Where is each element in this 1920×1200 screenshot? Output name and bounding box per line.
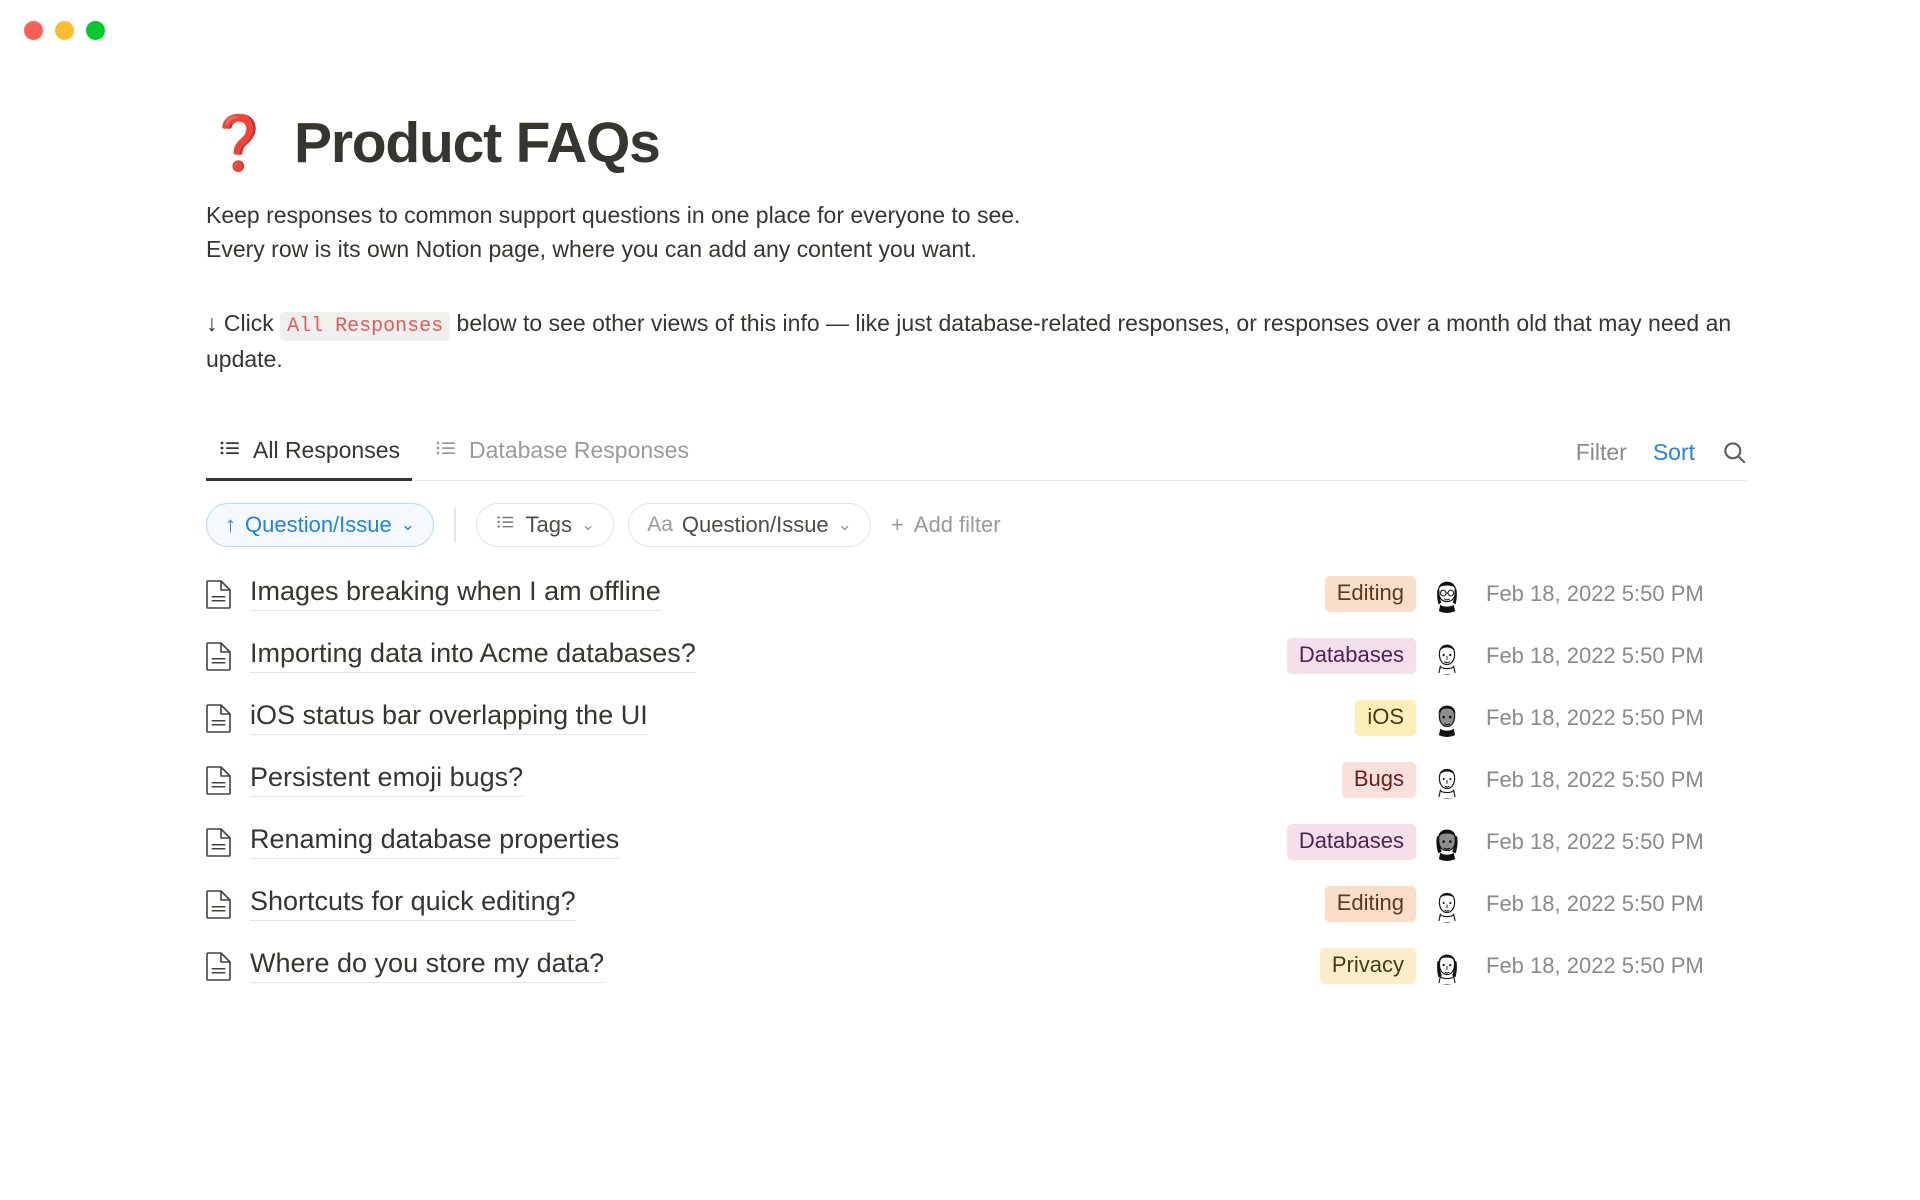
avatar: [1428, 637, 1466, 675]
filter-button[interactable]: Filter: [1576, 439, 1627, 466]
avatar-cell: [1416, 823, 1478, 861]
avatar-cell: [1416, 885, 1478, 923]
table-row[interactable]: iOS status bar overlapping the UIiOSFeb …: [206, 687, 1748, 749]
page-icon: [206, 579, 250, 609]
maximize-window-button[interactable]: [86, 21, 105, 40]
table-row[interactable]: Shortcuts for quick editing?EditingFeb 1…: [206, 873, 1748, 935]
sort-chip-label: Question/Issue: [245, 512, 392, 538]
page-icon: [206, 765, 250, 795]
status-badge[interactable]: iOS: [1355, 700, 1416, 736]
row-date: Feb 18, 2022 5:50 PM: [1478, 767, 1748, 793]
table-row[interactable]: Renaming database propertiesDatabasesFeb…: [206, 811, 1748, 873]
row-date: Feb 18, 2022 5:50 PM: [1478, 891, 1748, 917]
window-titlebar: [0, 0, 1920, 60]
chevron-down-icon: ⌄: [581, 515, 595, 535]
toolbar-actions: Filter Sort: [1576, 439, 1748, 480]
table-row[interactable]: Persistent emoji bugs?BugsFeb 18, 2022 5…: [206, 749, 1748, 811]
status-badge[interactable]: Privacy: [1320, 948, 1416, 984]
filter-chip-label: Question/Issue: [682, 512, 829, 538]
page-icon: [206, 889, 250, 919]
avatar-cell: [1416, 947, 1478, 985]
text-property-icon: Aa: [647, 513, 673, 537]
sort-button[interactable]: Sort: [1653, 439, 1695, 466]
callout-paragraph: ↓ Click All Responses below to see other…: [206, 306, 1748, 376]
table-row[interactable]: Where do you store my data?PrivacyFeb 18…: [206, 935, 1748, 997]
tab-label: Database Responses: [469, 437, 689, 464]
list-icon: [218, 436, 242, 466]
row-date: Feb 18, 2022 5:50 PM: [1478, 581, 1748, 607]
page-icon: [206, 641, 250, 671]
row-date: Feb 18, 2022 5:50 PM: [1478, 643, 1748, 669]
callout-prefix: ↓ Click: [206, 310, 280, 336]
avatar-cell: [1416, 637, 1478, 675]
database-rows: Images breaking when I am offlineEditing…: [206, 563, 1748, 997]
row-title[interactable]: Images breaking when I am offline: [250, 576, 661, 611]
page-icon: [206, 827, 250, 857]
table-row[interactable]: Images breaking when I am offlineEditing…: [206, 563, 1748, 625]
avatar-cell: [1416, 699, 1478, 737]
row-title[interactable]: iOS status bar overlapping the UI: [250, 700, 648, 735]
search-icon[interactable]: [1721, 439, 1748, 466]
table-row[interactable]: Importing data into Acme databases?Datab…: [206, 625, 1748, 687]
row-date: Feb 18, 2022 5:50 PM: [1478, 953, 1748, 979]
filter-chip-tags[interactable]: Tags ⌄: [476, 503, 615, 547]
avatar: [1428, 699, 1466, 737]
status-badge[interactable]: Bugs: [1342, 762, 1416, 798]
tab-label: All Responses: [253, 437, 400, 464]
chip-divider: [454, 508, 456, 542]
view-tabs: All Responses Database Responses: [206, 430, 701, 480]
row-title[interactable]: Persistent emoji bugs?: [250, 762, 523, 797]
tag-cell: Privacy: [1166, 948, 1416, 984]
avatar: [1428, 885, 1466, 923]
filter-chip-row: ↑ Question/Issue ⌄ Tags ⌄ Aa Question/: [206, 503, 1748, 547]
list-icon: [495, 511, 517, 539]
traffic-lights: [24, 21, 105, 40]
close-window-button[interactable]: [24, 21, 43, 40]
avatar-cell: [1416, 575, 1478, 613]
tab-database-responses[interactable]: Database Responses: [422, 430, 701, 480]
tag-cell: Editing: [1166, 576, 1416, 612]
avatar: [1428, 823, 1466, 861]
page-header: ❓ Product FAQs: [206, 114, 1748, 174]
question-mark-emoji: ❓: [206, 117, 272, 170]
row-title[interactable]: Importing data into Acme databases?: [250, 638, 696, 673]
avatar: [1428, 761, 1466, 799]
chevron-down-icon: ⌄: [401, 515, 415, 535]
page-container: ❓ Product FAQs Keep responses to common …: [0, 114, 1920, 997]
plus-icon: +: [891, 512, 904, 538]
status-badge[interactable]: Databases: [1287, 638, 1416, 674]
tag-cell: iOS: [1166, 700, 1416, 736]
row-title[interactable]: Where do you store my data?: [250, 948, 604, 983]
tab-all-responses[interactable]: All Responses: [206, 430, 412, 480]
status-badge[interactable]: Editing: [1325, 886, 1416, 922]
status-badge[interactable]: Editing: [1325, 576, 1416, 612]
tag-cell: Bugs: [1166, 762, 1416, 798]
filter-chip-question-issue[interactable]: Aa Question/Issue ⌄: [628, 503, 871, 547]
description-spacer: [206, 266, 1748, 306]
row-date: Feb 18, 2022 5:50 PM: [1478, 705, 1748, 731]
list-icon: [434, 436, 458, 466]
tag-cell: Editing: [1166, 886, 1416, 922]
sort-ascending-icon: ↑: [225, 512, 236, 538]
add-filter-button[interactable]: + Add filter: [885, 512, 1007, 538]
chevron-down-icon: ⌄: [838, 515, 852, 535]
database-toolbar: All Responses Database Responses F: [206, 430, 1748, 481]
all-responses-code-chip[interactable]: All Responses: [280, 312, 450, 341]
page-icon: [206, 951, 250, 981]
minimize-window-button[interactable]: [55, 21, 74, 40]
status-badge[interactable]: Databases: [1287, 824, 1416, 860]
row-title[interactable]: Renaming database properties: [250, 824, 619, 859]
description-line-1: Keep responses to common support questio…: [206, 198, 1748, 232]
add-filter-label: Add filter: [914, 512, 1001, 538]
sort-chip-question-issue[interactable]: ↑ Question/Issue ⌄: [206, 503, 434, 547]
row-title[interactable]: Shortcuts for quick editing?: [250, 886, 576, 921]
filter-chip-label: Tags: [526, 512, 572, 538]
tag-cell: Databases: [1166, 638, 1416, 674]
avatar: [1428, 947, 1466, 985]
page-icon: [206, 703, 250, 733]
row-date: Feb 18, 2022 5:50 PM: [1478, 829, 1748, 855]
page-description: Keep responses to common support questio…: [206, 198, 1748, 376]
description-line-2: Every row is its own Notion page, where …: [206, 232, 1748, 266]
avatar: [1428, 575, 1466, 613]
page-title: Product FAQs: [294, 114, 660, 174]
tag-cell: Databases: [1166, 824, 1416, 860]
avatar-cell: [1416, 761, 1478, 799]
